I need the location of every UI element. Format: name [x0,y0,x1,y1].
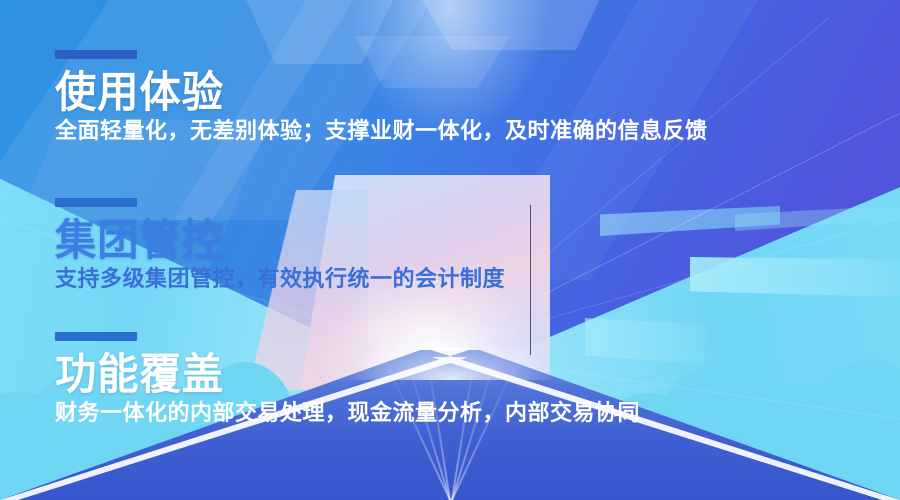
feature-subtitle-3: 财务一体化的内部交易处理，现金流量分析，内部交易协同 [55,401,640,425]
accent-bar-2 [55,198,137,207]
feature-block-function-coverage: 功能覆盖 财务一体化的内部交易处理，现金流量分析，内部交易协同 [55,332,640,425]
feature-block-group-control: 集团管控 支持多级集团管控，有效执行统一的会计制度 [55,198,505,291]
feature-subtitle-2: 支持多级集团管控，有效执行统一的会计制度 [55,267,505,291]
feature-block-experience: 使用体验 全面轻量化，无差别体验；支撑业财一体化，及时准确的信息反馈 [55,50,708,143]
accent-bar-1 [55,50,137,59]
feature-heading-2: 集团管控 [55,220,487,263]
feature-subtitle-1: 全面轻量化，无差别体验；支撑业财一体化，及时准确的信息反馈 [55,119,708,143]
accent-bar-3 [55,332,137,341]
feature-heading-1: 使用体验 [55,72,681,115]
feature-list: 使用体验 全面轻量化，无差别体验；支撑业财一体化，及时准确的信息反馈 集团管控 … [0,0,900,500]
feature-heading-3: 功能覆盖 [55,354,617,397]
promo-banner: 使用体验 全面轻量化，无差别体验；支撑业财一体化，及时准确的信息反馈 集团管控 … [0,0,900,500]
